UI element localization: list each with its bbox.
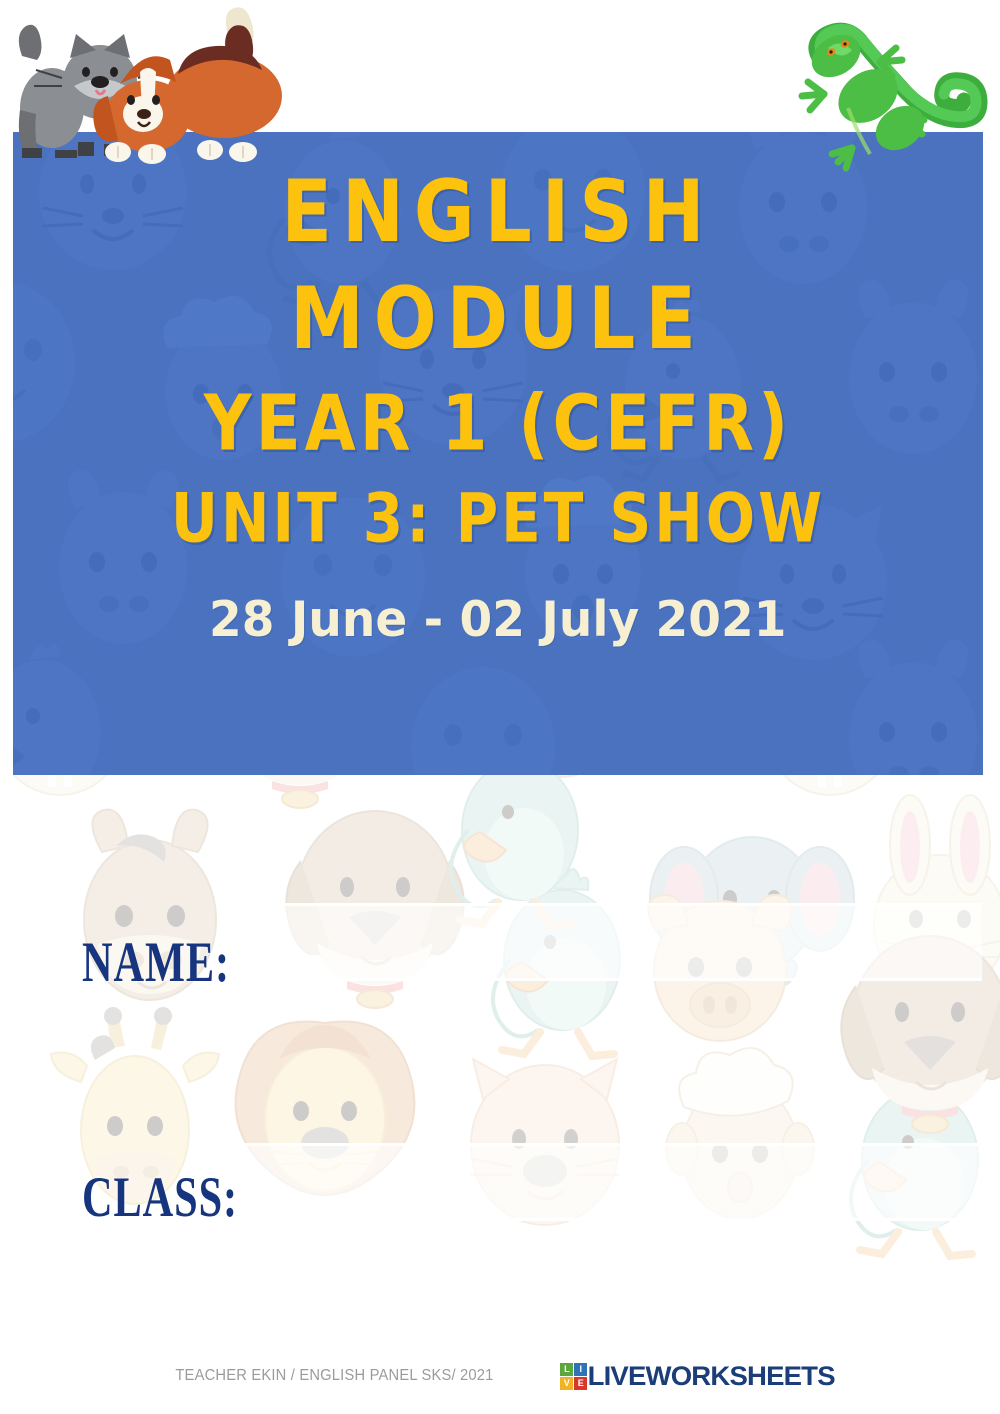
logo-tile-i: I xyxy=(574,1363,587,1376)
title-line-module: MODULE xyxy=(290,277,706,361)
title-banner: ENGLISH MODULE YEAR 1 (CEFR) UNIT 3: PET… xyxy=(13,132,983,775)
liveworksheets-wordmark: LIVEWORKSHEETS xyxy=(588,1361,835,1392)
class-input[interactable] xyxy=(230,1143,982,1221)
logo-tile-v: V xyxy=(560,1377,573,1390)
name-input[interactable] xyxy=(230,903,982,981)
lizard-illustration xyxy=(802,26,980,168)
class-field-group: CLASS: xyxy=(82,1170,252,1223)
liveworksheets-logo[interactable]: L I V E LIVEWORKSHEETS xyxy=(560,1361,832,1392)
pastel-animal-pattern xyxy=(0,775,1000,1340)
liveworksheets-tiles-icon: L I V E xyxy=(560,1363,587,1390)
name-field-group: NAME: xyxy=(82,935,243,988)
logo-tile-l: L xyxy=(560,1363,573,1376)
class-label: CLASS: xyxy=(82,1163,238,1229)
title-line-unit: UNIT 3: PET SHOW xyxy=(171,486,825,552)
date-range: 28 June - 02 July 2021 xyxy=(209,591,786,648)
logo-tile-e: E xyxy=(574,1377,587,1390)
credit-text: TEACHER EKIN / ENGLISH PANEL SKS/ 2021 xyxy=(176,1367,494,1385)
name-label: NAME: xyxy=(82,928,230,994)
worksheet-page: ENGLISH MODULE YEAR 1 (CEFR) UNIT 3: PET… xyxy=(0,0,1000,1414)
form-area: NAME: CLASS: xyxy=(0,775,1000,1340)
top-illustrations xyxy=(0,0,1000,190)
footer: TEACHER EKIN / ENGLISH PANEL SKS/ 2021 L… xyxy=(0,1356,1000,1396)
title-line-year-cefr: YEAR 1 (CEFR) xyxy=(204,387,792,462)
